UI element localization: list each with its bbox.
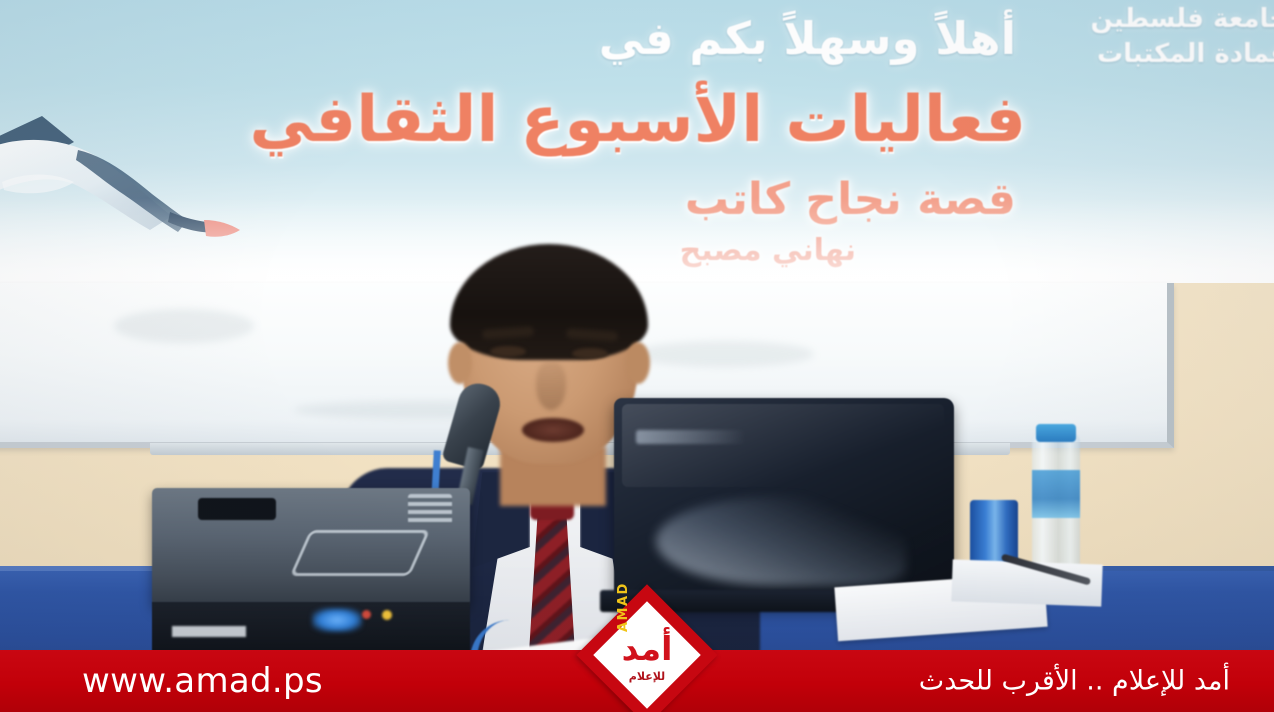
- bottle-label: [1032, 470, 1080, 518]
- projector-lens: [198, 498, 276, 520]
- banner-welcome-text: أهلاً وسهلاً بكم في: [599, 16, 1016, 61]
- banner-organization: جامعة فلسطين عمادة المكتبات: [1090, 2, 1274, 72]
- banner-title: فعاليات الأسبوع الثقافي: [250, 88, 1026, 152]
- logo-latin-wordmark: AMAD: [616, 582, 631, 632]
- laptop-screen-glare: [656, 496, 906, 586]
- hand-with-pen-icon: [0, 108, 242, 258]
- laptop-brand-logo: [636, 430, 746, 444]
- mouth: [522, 418, 584, 442]
- site-url-text: www.amad.ps: [82, 661, 323, 701]
- projector-status-led-amber: [382, 610, 392, 620]
- news-photo-stage: جامعة فلسطين عمادة المكتبات أهلاً وسهلاً…: [0, 0, 1274, 712]
- eye-right: [572, 348, 608, 359]
- bottle-cap: [1036, 424, 1076, 442]
- projector-vent: [408, 494, 452, 524]
- projector-label: [172, 626, 246, 637]
- amad-logo: أمد AMAD للإعلام: [590, 598, 704, 712]
- nose: [536, 362, 566, 410]
- event-banner: جامعة فلسطين عمادة المكتبات أهلاً وسهلاً…: [0, 0, 1274, 283]
- ear-left: [448, 342, 472, 384]
- hair: [450, 244, 648, 360]
- site-slogan-text: أمد للإعلام .. الأقرب للحدث: [919, 666, 1230, 697]
- logo-arabic-wordmark: أمد: [590, 632, 704, 665]
- projector-power-led: [312, 608, 362, 632]
- eye-left: [490, 346, 526, 357]
- logo-tagline: للإعلام: [590, 670, 704, 683]
- projector-decal: [290, 530, 430, 576]
- projector-status-led-red: [362, 610, 371, 619]
- banner-subtitle: قصة نجاح كاتب: [685, 178, 1016, 222]
- ear-right: [626, 342, 650, 384]
